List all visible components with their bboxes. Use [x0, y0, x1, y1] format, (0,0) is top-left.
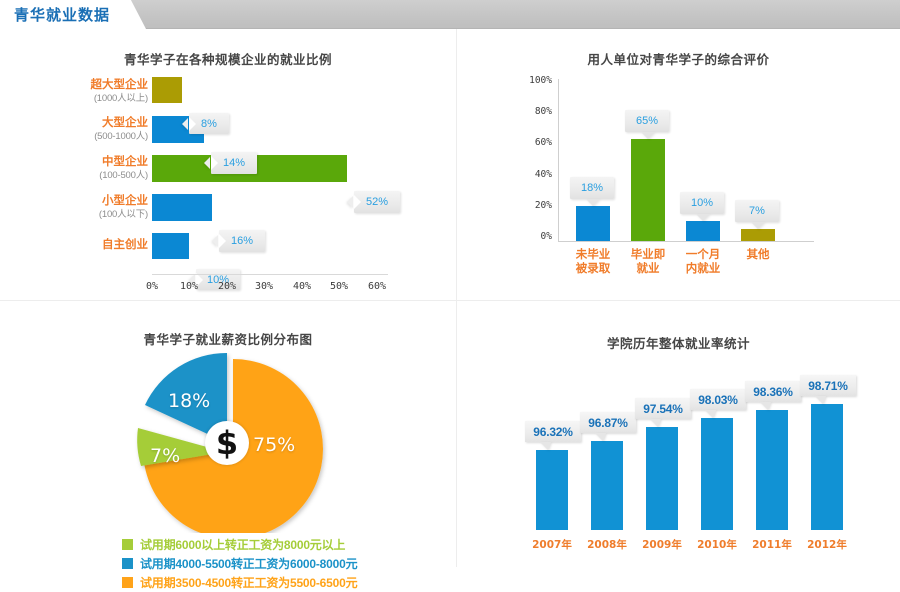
vbar-2012[interactable]	[811, 404, 843, 530]
chart-employer-evaluation: 用人单位对青华学子的综合评价 100% 80% 60% 40% 20% 0% 1…	[457, 29, 900, 300]
cat-label-4: 自主创业	[28, 239, 148, 252]
vbar-3[interactable]	[741, 229, 775, 241]
pie-center-dollar-icon: $	[205, 421, 249, 465]
legend-item-2[interactable]: 试用期3500-4500转正工资为5500-6500元	[122, 573, 357, 592]
cat-label-3: 小型企业 (100人以下)	[28, 195, 148, 221]
vcat-2-line2: 内就业	[686, 263, 721, 275]
legend-swatch-blue-icon	[122, 558, 133, 569]
vbar-2008[interactable]	[591, 441, 623, 530]
value-bubble-2007: 96.32%	[525, 421, 581, 442]
chart-title-salary-distribution: 青华学子就业薪资比例分布图	[0, 329, 456, 348]
pie-label-18: 18%	[168, 390, 210, 412]
legend-item-0[interactable]: 试用期6000以上转正工资为8000元以上	[122, 535, 357, 554]
x-axis-line	[152, 274, 388, 275]
vcat-3: 其他	[730, 248, 786, 262]
value-bubble-2012: 98.71%	[800, 375, 856, 396]
vbar-2[interactable]	[686, 221, 720, 241]
ytick-0: 0%	[510, 231, 552, 242]
pie-label-75: 75%	[253, 434, 295, 456]
hbar-0[interactable]	[152, 77, 182, 103]
year-label-2011: 2011年	[746, 537, 798, 552]
chart-yearly-employment-rate: 学院历年整体就业率统计 96.32% 96.87% 97.54% 98.03% …	[457, 301, 900, 567]
vbar-2011[interactable]	[756, 410, 788, 530]
value-bubble-0: 18%	[570, 177, 614, 199]
y-axis-line	[558, 79, 559, 241]
value-bubble-2009: 97.54%	[635, 398, 691, 419]
value-bubble-0: 8%	[189, 113, 229, 134]
legend-swatch-orange-icon	[122, 577, 133, 588]
cat-label-1: 大型企业 (500-1000人)	[28, 117, 148, 143]
vbar-0[interactable]	[576, 206, 610, 241]
vbar-2010[interactable]	[701, 418, 733, 530]
cat-label-0-main: 超大型企业	[91, 79, 149, 91]
cat-label-1-sub: (500-1000人)	[28, 130, 148, 143]
value-bubble-2011: 98.36%	[745, 381, 801, 402]
value-bubble-2008: 96.87%	[580, 412, 636, 433]
vbar-1[interactable]	[631, 139, 665, 241]
xtick-5: 50%	[321, 281, 357, 292]
vcat-1-line1: 毕业即	[631, 249, 666, 261]
year-label-2008: 2008年	[581, 537, 633, 552]
value-bubble-3: 7%	[735, 200, 779, 222]
value-bubble-2: 52%	[354, 191, 400, 213]
ytick-60: 60%	[510, 137, 552, 148]
ytick-40: 40%	[510, 169, 552, 180]
xtick-6: 60%	[359, 281, 395, 292]
legend-label-0: 试用期6000以上转正工资为8000元以上	[140, 536, 345, 553]
chart-title-enterprise-scale: 青华学子在各种规模企业的就业比例	[0, 49, 456, 68]
vbar-2007[interactable]	[536, 450, 568, 530]
value-bubble-1: 65%	[625, 110, 669, 132]
vcat-2-line1: 一个月	[686, 249, 721, 261]
tab-slant-edge	[120, 0, 146, 29]
value-bubble-1: 14%	[211, 152, 257, 174]
cat-label-3-sub: (100人以下)	[28, 208, 148, 221]
value-bubble-2010: 98.03%	[690, 389, 746, 410]
vcat-0: 未毕业 被录取	[565, 248, 621, 276]
pie-legend: 试用期6000以上转正工资为8000元以上 试用期4000-5500转正工资为6…	[122, 535, 357, 592]
ytick-80: 80%	[510, 106, 552, 117]
legend-label-1: 试用期4000-5500转正工资为6000-8000元	[140, 555, 357, 572]
cat-label-3-main: 小型企业	[102, 195, 148, 207]
year-label-2007: 2007年	[526, 537, 578, 552]
legend-swatch-green-icon	[122, 539, 133, 550]
cat-label-2: 中型企业 (100-500人)	[28, 156, 148, 182]
chart-salary-distribution: 青华学子就业薪资比例分布图 $ 75% 18% 7% 试用期6000以上转正工资…	[0, 301, 456, 567]
xtick-2: 20%	[209, 281, 245, 292]
cat-label-2-sub: (100-500人)	[28, 169, 148, 182]
vbar-2009[interactable]	[646, 427, 678, 530]
xtick-3: 30%	[246, 281, 282, 292]
cat-label-4-main: 自主创业	[102, 239, 148, 251]
chart-title-employer-evaluation: 用人单位对青华学子的综合评价	[457, 49, 900, 68]
cat-label-0: 超大型企业 (1000人以上)	[28, 79, 148, 105]
value-bubble-2: 10%	[680, 192, 724, 214]
legend-label-2: 试用期3500-4500转正工资为5500-6500元	[140, 574, 357, 591]
ytick-100: 100%	[510, 75, 552, 86]
vcat-0-line2: 被录取	[576, 263, 611, 275]
xtick-4: 40%	[284, 281, 320, 292]
xtick-1: 10%	[171, 281, 207, 292]
cat-label-0-sub: (1000人以上)	[28, 92, 148, 105]
x-axis-line	[558, 241, 814, 242]
pie-label-7: 7%	[150, 445, 180, 467]
value-bubble-3: 16%	[219, 230, 265, 252]
hbar-3[interactable]	[152, 194, 212, 221]
cat-label-1-main: 大型企业	[102, 117, 148, 129]
vcat-2: 一个月 内就业	[675, 248, 731, 276]
xtick-0: 0%	[134, 281, 170, 292]
cat-label-2-main: 中型企业	[102, 156, 148, 168]
vcat-1: 毕业即 就业	[620, 248, 676, 276]
year-label-2009: 2009年	[636, 537, 688, 552]
vcat-3-line1: 其他	[747, 249, 770, 261]
ytick-20: 20%	[510, 200, 552, 211]
header-bar: 青华就业数据	[0, 0, 900, 29]
chart-title-yearly-employment-rate: 学院历年整体就业率统计	[457, 333, 900, 352]
chart-enterprise-scale: 青华学子在各种规模企业的就业比例 超大型企业 (1000人以上) 大型企业 (5…	[0, 29, 456, 300]
vcat-0-line1: 未毕业	[576, 249, 611, 261]
legend-item-1[interactable]: 试用期4000-5500转正工资为6000-8000元	[122, 554, 357, 573]
tab-label: 青华就业数据	[14, 4, 110, 25]
year-label-2010: 2010年	[691, 537, 743, 552]
year-label-2012: 2012年	[801, 537, 853, 552]
dashboard-grid: 青华学子在各种规模企业的就业比例 超大型企业 (1000人以上) 大型企业 (5…	[0, 29, 900, 567]
vcat-1-line2: 就业	[637, 263, 660, 275]
hbar-4[interactable]	[152, 233, 189, 259]
